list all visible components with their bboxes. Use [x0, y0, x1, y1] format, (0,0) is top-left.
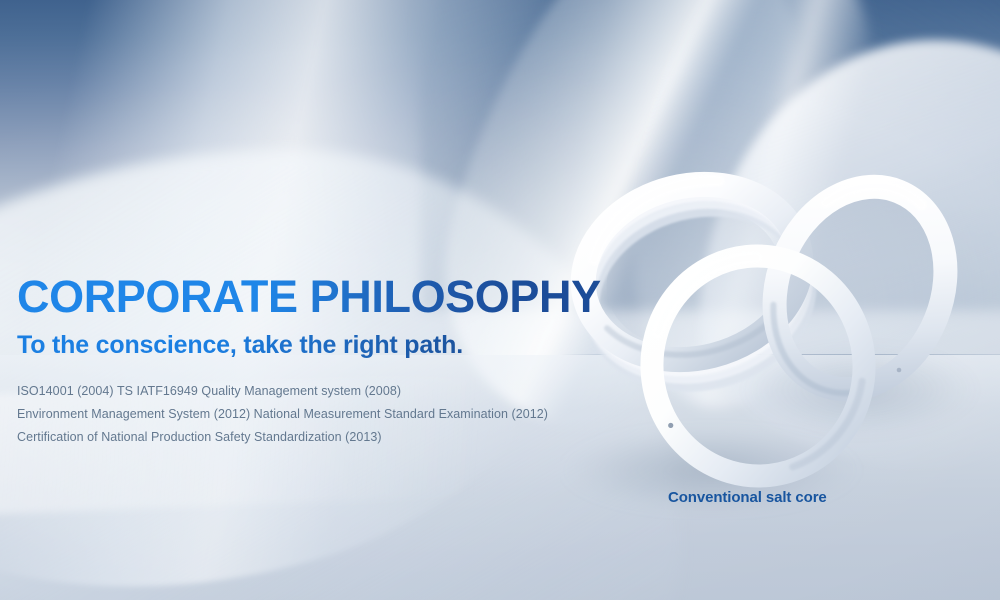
ring-vent-hole-secondary — [897, 368, 902, 373]
page-subtitle: To the conscience, take the right path. — [17, 330, 657, 360]
certification-line: Environment Management System (2012) Nat… — [17, 403, 657, 426]
certification-line: Certification of National Production Saf… — [17, 426, 657, 449]
philosophy-text-block: CORPORATE PHILOSOPHY To the conscience, … — [17, 272, 657, 449]
certification-list: ISO14001 (2004) TS IATF16949 Quality Man… — [17, 380, 657, 449]
product-caption: Conventional salt core — [668, 489, 827, 506]
certification-line: ISO14001 (2004) TS IATF16949 Quality Man… — [17, 380, 657, 403]
page-title: CORPORATE PHILOSOPHY — [17, 272, 657, 322]
corporate-philosophy-banner: CORPORATE PHILOSOPHY To the conscience, … — [0, 0, 1000, 600]
